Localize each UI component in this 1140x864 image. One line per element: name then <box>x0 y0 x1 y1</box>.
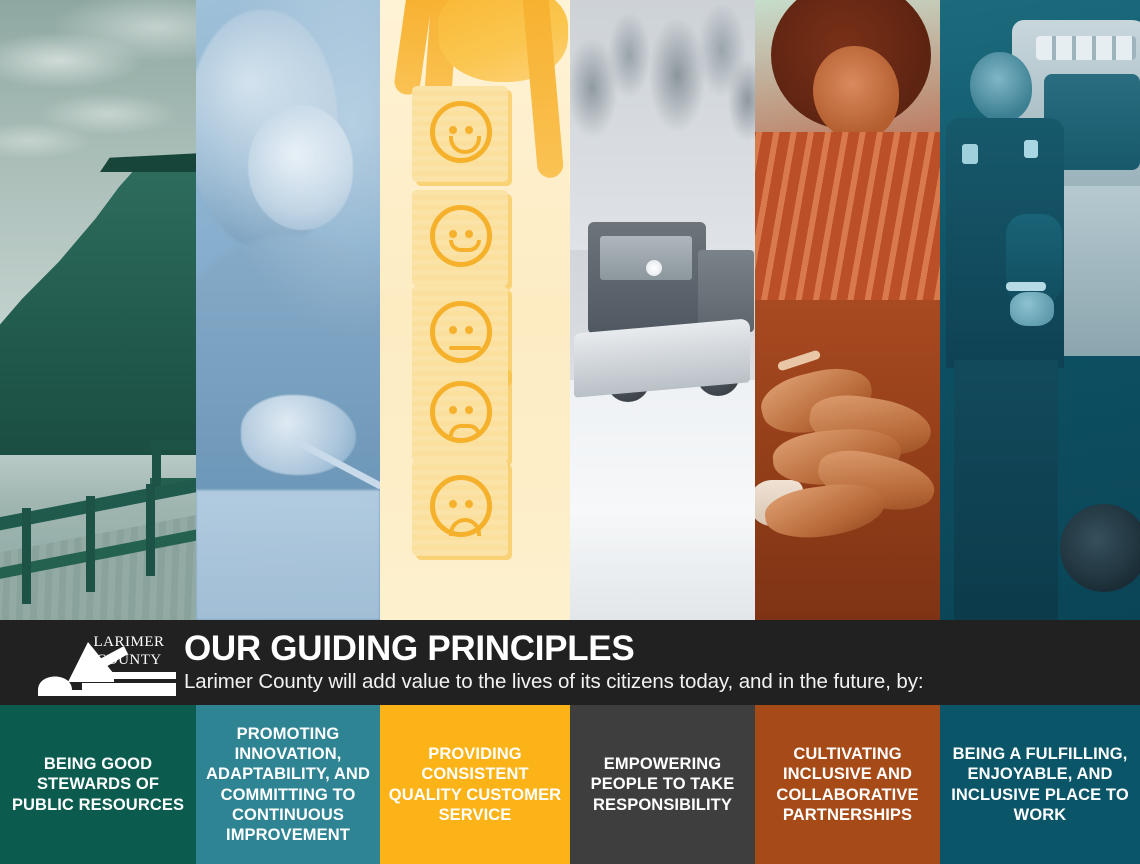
photo-deputy-patrol-car <box>940 0 1140 620</box>
banner-title: OUR GUIDING PRINCIPLES <box>184 631 923 667</box>
patrol-car-tire <box>1060 504 1140 592</box>
officer-badge-icon <box>962 144 978 164</box>
photo-mountain-boardwalk <box>0 0 196 620</box>
logo-line2: COUNTY <box>96 652 162 668</box>
principle-label: PROMOTING INNOVATION, ADAPTABILITY, AND … <box>204 724 372 846</box>
photo-hands-together <box>755 0 940 620</box>
wristwatch-icon <box>1006 282 1046 291</box>
mountain-logo-icon: LARIMER COUNTY <box>36 626 176 700</box>
truck-window <box>600 236 692 280</box>
officer-head <box>970 52 1032 122</box>
principle-label: CULTIVATING INCLUSIVE AND COLLABORATIVE … <box>763 744 932 825</box>
banner: LARIMER COUNTY OUR GUIDING PRINCIPLES La… <box>0 620 1140 705</box>
principles-bar-row: BEING GOOD STEWARDS OF PUBLIC RESOURCES … <box>0 705 1140 864</box>
sad-face-icon <box>430 475 492 537</box>
principle-label: BEING A FULFILLING, ENJOYABLE, AND INCLU… <box>948 744 1132 825</box>
smile-face-icon <box>430 205 492 267</box>
rail-post <box>22 508 31 604</box>
truck-headlight <box>646 260 662 276</box>
principle-label: EMPOWERING PEOPLE TO TAKE RESPONSIBILITY <box>578 754 747 815</box>
snow-layer <box>570 380 755 620</box>
rail-post <box>86 496 95 592</box>
block-sad <box>412 460 508 556</box>
photo-person-writing <box>196 0 380 620</box>
photo-strip <box>0 0 1140 620</box>
light-glare <box>196 0 380 620</box>
rail-post <box>146 484 155 576</box>
principle-bar-partnerships: CULTIVATING INCLUSIVE AND COLLABORATIVE … <box>755 705 940 864</box>
face-shape <box>813 46 899 140</box>
officer-legs <box>954 360 1058 620</box>
principle-label: PROVIDING CONSISTENT QUALITY CUSTOMER SE… <box>388 744 562 825</box>
block-slight-frown <box>412 366 508 462</box>
treeline-layer <box>570 0 755 250</box>
larimer-county-logo: LARIMER COUNTY <box>36 626 176 700</box>
principle-bar-stewards: BEING GOOD STEWARDS OF PUBLIC RESOURCES <box>0 705 196 864</box>
principle-bar-innovation: PROMOTING INNOVATION, ADAPTABILITY, AND … <box>196 705 380 864</box>
block-slight-smile <box>412 190 508 286</box>
guiding-principles-poster: LARIMER COUNTY OUR GUIDING PRINCIPLES La… <box>0 0 1140 864</box>
happy-face-icon <box>430 101 492 163</box>
principle-label: BEING GOOD STEWARDS OF PUBLIC RESOURCES <box>8 754 188 815</box>
banner-subtitle: Larimer County will add value to the liv… <box>184 670 923 694</box>
patrol-car-lightbar <box>1036 36 1136 60</box>
officer-hand <box>1010 292 1054 326</box>
principle-bar-customer-service: PROVIDING CONSISTENT QUALITY CUSTOMER SE… <box>380 705 570 864</box>
logo-line1: LARIMER <box>94 634 165 650</box>
photo-snow-plow-truck <box>570 0 755 620</box>
neutral-face-icon <box>430 301 492 363</box>
frown-face-icon <box>430 381 492 443</box>
photo-wooden-face-blocks <box>380 0 570 620</box>
principle-bar-responsibility: EMPOWERING PEOPLE TO TAKE RESPONSIBILITY <box>570 705 755 864</box>
block-happy <box>412 86 508 182</box>
shoulder-mic-icon <box>1024 140 1038 158</box>
principle-bar-place-to-work: BEING A FULFILLING, ENJOYABLE, AND INCLU… <box>940 705 1140 864</box>
banner-text-block: OUR GUIDING PRINCIPLES Larimer County wi… <box>184 631 923 693</box>
